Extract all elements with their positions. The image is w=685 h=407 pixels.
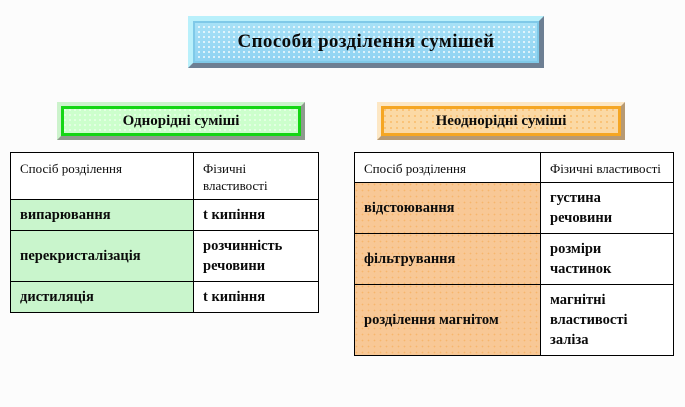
table-heterogeneous-mixtures: Спосіб розділення Фізичні властивості ві… — [354, 152, 674, 356]
category-header-heterogeneous: Неоднорідні суміші — [377, 102, 625, 140]
column-header-method: Спосіб розділення — [355, 153, 541, 183]
table-row: розділення магнітом магнітні властивості… — [355, 285, 674, 356]
page-title: Способи розділення сумішей — [237, 31, 494, 53]
cell-method: фільтрування — [355, 234, 541, 285]
category-label-heterogeneous: Неоднорідні суміші — [436, 113, 567, 130]
diagram-title-inner: Способи розділення сумішей — [193, 21, 539, 63]
table-row: перекристалізація розчинність речовини — [11, 231, 319, 282]
cell-property: магнітні властивості заліза — [541, 285, 674, 356]
cell-method: перекристалізація — [11, 231, 194, 282]
cell-method: дистиляція — [11, 282, 194, 313]
table-row: фільтрування розміри частинок — [355, 234, 674, 285]
cell-property: густина речовини — [541, 183, 674, 234]
cell-property: t кипіння — [194, 282, 319, 313]
table-header-row: Спосіб розділення Фізичні властивості — [355, 153, 674, 183]
table-header-row: Спосіб розділення Фізичні властивості — [11, 153, 319, 200]
category-header-heterogeneous-bevel: Неоднорідні суміші — [381, 106, 621, 136]
table-row: дистиляція t кипіння — [11, 282, 319, 313]
table-row: випарювання t кипіння — [11, 200, 319, 231]
category-header-homogeneous: Однорідні суміші — [57, 102, 305, 140]
cell-method: відстоювання — [355, 183, 541, 234]
diagram-title-box: Способи розділення сумішей — [188, 16, 544, 68]
category-header-homogeneous-bevel: Однорідні суміші — [61, 106, 301, 136]
table-homogeneous-mixtures: Спосіб розділення Фізичні властивості ви… — [10, 152, 319, 313]
column-header-property: Фізичні властивості — [541, 153, 674, 183]
column-header-property: Фізичні властивості — [194, 153, 319, 200]
cell-property: розміри частинок — [541, 234, 674, 285]
column-header-method: Спосіб розділення — [11, 153, 194, 200]
cell-method: випарювання — [11, 200, 194, 231]
cell-property: t кипіння — [194, 200, 319, 231]
cell-property: розчинність речовини — [194, 231, 319, 282]
category-label-homogeneous: Однорідні суміші — [123, 113, 240, 130]
cell-method: розділення магнітом — [355, 285, 541, 356]
table-row: відстоювання густина речовини — [355, 183, 674, 234]
